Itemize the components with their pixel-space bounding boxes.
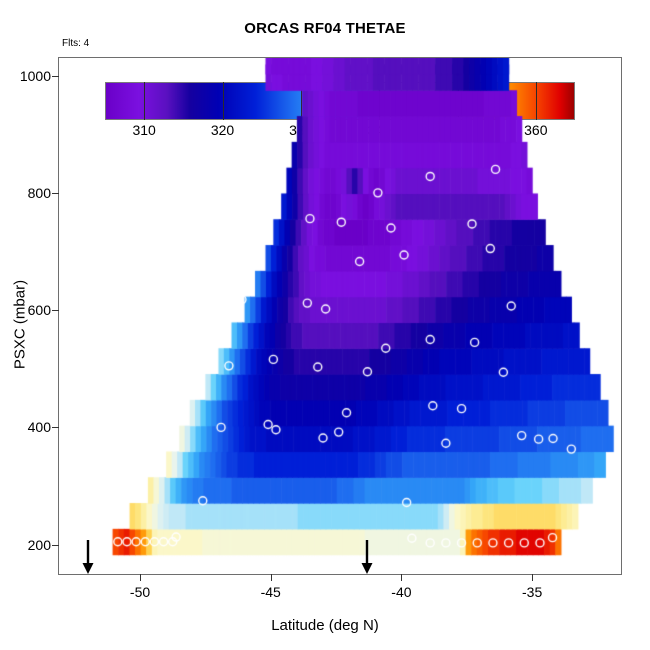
flights-annotation: Flts: 4 xyxy=(62,38,89,49)
y-axis-tick-label: 200 xyxy=(3,537,51,553)
x-axis-title: Latitude (deg N) xyxy=(0,617,650,634)
y-axis-tick xyxy=(52,76,59,77)
x-axis-tick-label: -45 xyxy=(261,584,281,600)
x-axis-tick xyxy=(140,574,141,581)
y-axis-tick xyxy=(52,427,59,428)
profile-end-arrow xyxy=(360,540,374,574)
y-axis-tick-label: 800 xyxy=(3,185,51,201)
x-axis-tick-label: -35 xyxy=(522,584,542,600)
y-axis-tick-label: 1000 xyxy=(3,68,51,84)
x-axis-tick-label: -40 xyxy=(391,584,411,600)
y-axis-tick xyxy=(52,193,59,194)
x-axis-tick-label: -50 xyxy=(130,584,150,600)
profile-start-arrow xyxy=(81,540,95,574)
y-axis-tick xyxy=(52,545,59,546)
x-axis-tick xyxy=(401,574,402,581)
page-title: ORCAS RF04 THETAE xyxy=(0,20,650,37)
x-axis-tick xyxy=(271,574,272,581)
y-axis-title: PSXC (mbar) xyxy=(12,215,29,435)
heatmap-canvas xyxy=(59,58,621,574)
y-axis-tick xyxy=(52,310,59,311)
x-axis-tick xyxy=(532,574,533,581)
